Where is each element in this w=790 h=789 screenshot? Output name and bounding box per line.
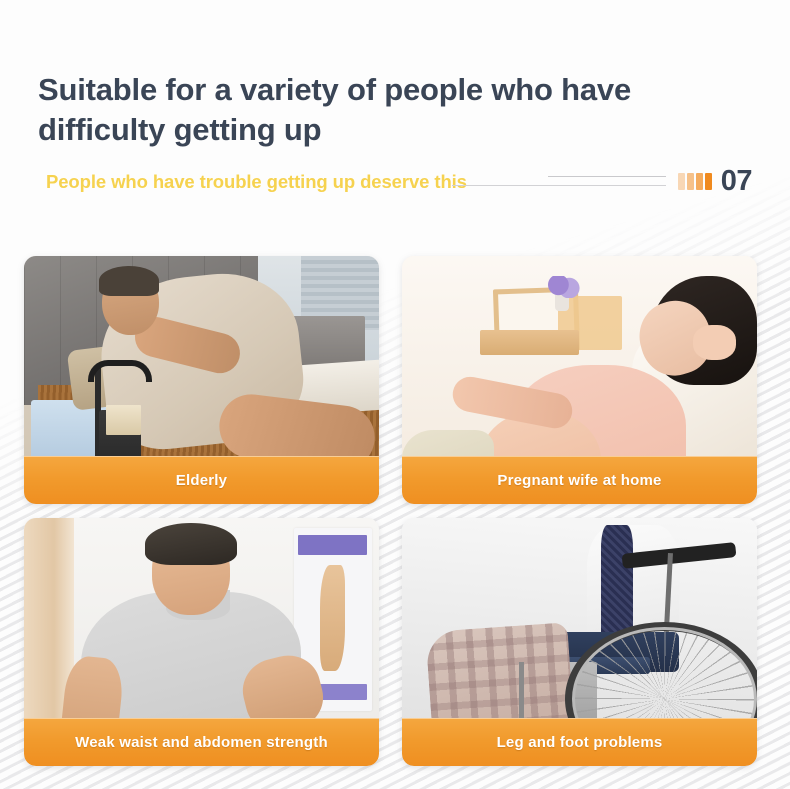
card-label-weak-waist: Weak waist and abdomen strength	[24, 718, 379, 766]
card-leg-foot[interactable]: Leg and foot problems	[402, 518, 757, 766]
persona-card-grid: Elderly Pregnant wife at home	[24, 256, 766, 766]
page-number: 07	[721, 167, 752, 196]
card-pregnant-wife[interactable]: Pregnant wife at home	[402, 256, 757, 504]
card-weak-waist[interactable]: Weak waist and abdomen strength	[24, 518, 379, 766]
page-bar-4-icon	[705, 173, 712, 190]
subtitle-row: People who have trouble getting up deser…	[38, 167, 752, 196]
woman-hand	[693, 325, 736, 360]
grab-handle-grip	[88, 360, 152, 382]
card-elderly[interactable]: Elderly	[24, 256, 379, 504]
page-subtitle: People who have trouble getting up deser…	[38, 171, 467, 193]
man-hair	[145, 523, 237, 565]
flowers	[544, 276, 580, 298]
page-bar-2-icon	[687, 173, 694, 190]
rule-line-bottom	[452, 185, 666, 186]
rule-line-top	[548, 176, 666, 177]
page-indicator: 07	[678, 167, 752, 196]
page-bar-1-icon	[678, 173, 685, 190]
books-in-pouch	[106, 405, 142, 435]
header: Suitable for a variety of people who hav…	[38, 70, 738, 196]
page-indicator-bars	[678, 173, 712, 190]
person-vest	[601, 525, 633, 639]
page-bar-3-icon	[696, 173, 703, 190]
card-label-leg-foot: Leg and foot problems	[402, 718, 757, 766]
card-label-pregnant-wife: Pregnant wife at home	[402, 456, 757, 504]
poster-header-band	[298, 535, 367, 555]
card-label-elderly: Elderly	[24, 456, 379, 504]
person-hair	[99, 266, 159, 296]
side-table	[480, 330, 579, 355]
spine-diagram	[320, 565, 345, 671]
page-title: Suitable for a variety of people who hav…	[38, 70, 738, 149]
decorative-rules	[481, 172, 672, 192]
